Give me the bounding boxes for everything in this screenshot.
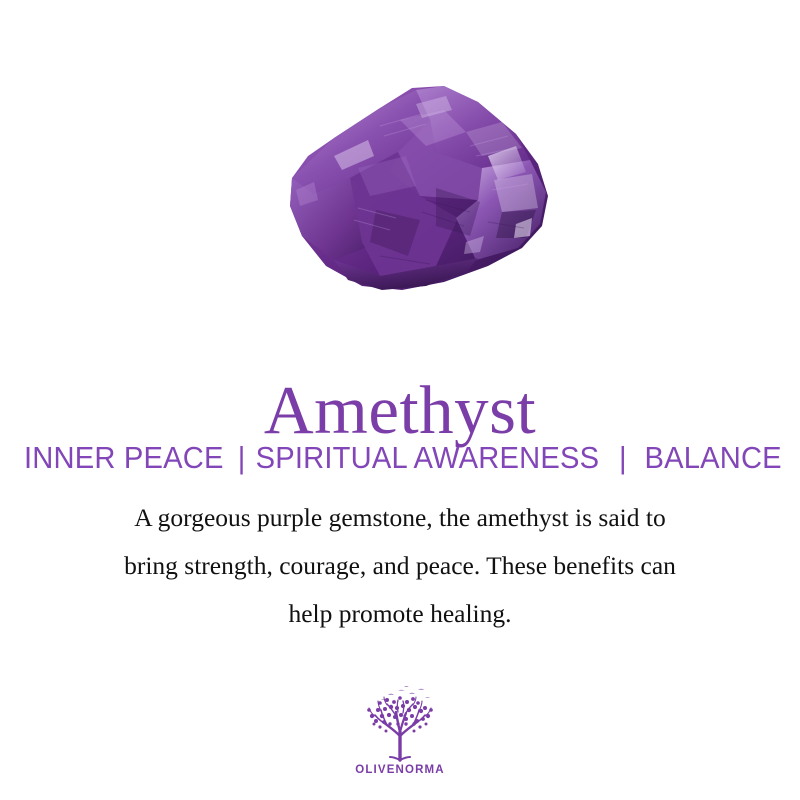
birds-flock xyxy=(381,686,430,700)
brand-logo: OLIVENORMA xyxy=(0,686,800,777)
amethyst-raw-crystal-icon xyxy=(230,60,570,300)
amethyst-product-card: Amethyst INNER PEACE|SPIRITUAL AWARENESS… xyxy=(0,0,800,800)
brand-wordmark: OLIVENORMA xyxy=(0,765,800,777)
keyword-inner-peace: INNER PEACE xyxy=(24,440,224,475)
keyword-spiritual-awareness: SPIRITUAL AWARENESS xyxy=(256,440,600,475)
description-line: help promote healing. xyxy=(50,594,750,642)
description-line: A gorgeous purple gemstone, the amethyst… xyxy=(50,498,750,546)
gemstone-image-container xyxy=(0,60,800,310)
page-title: Amethyst xyxy=(0,376,800,445)
olivenorma-tree-logo-icon xyxy=(354,686,446,764)
keyword-balance: BALANCE xyxy=(644,440,781,475)
product-description: A gorgeous purple gemstone, the amethyst… xyxy=(50,498,750,642)
keyword-subtitle: INNER PEACE|SPIRITUAL AWARENESS|BALANCE xyxy=(24,440,776,476)
keyword-separator-2: | xyxy=(619,440,627,476)
keyword-separator-1: | xyxy=(238,440,246,476)
description-line: bring strength, courage, and peace. Thes… xyxy=(50,546,750,594)
